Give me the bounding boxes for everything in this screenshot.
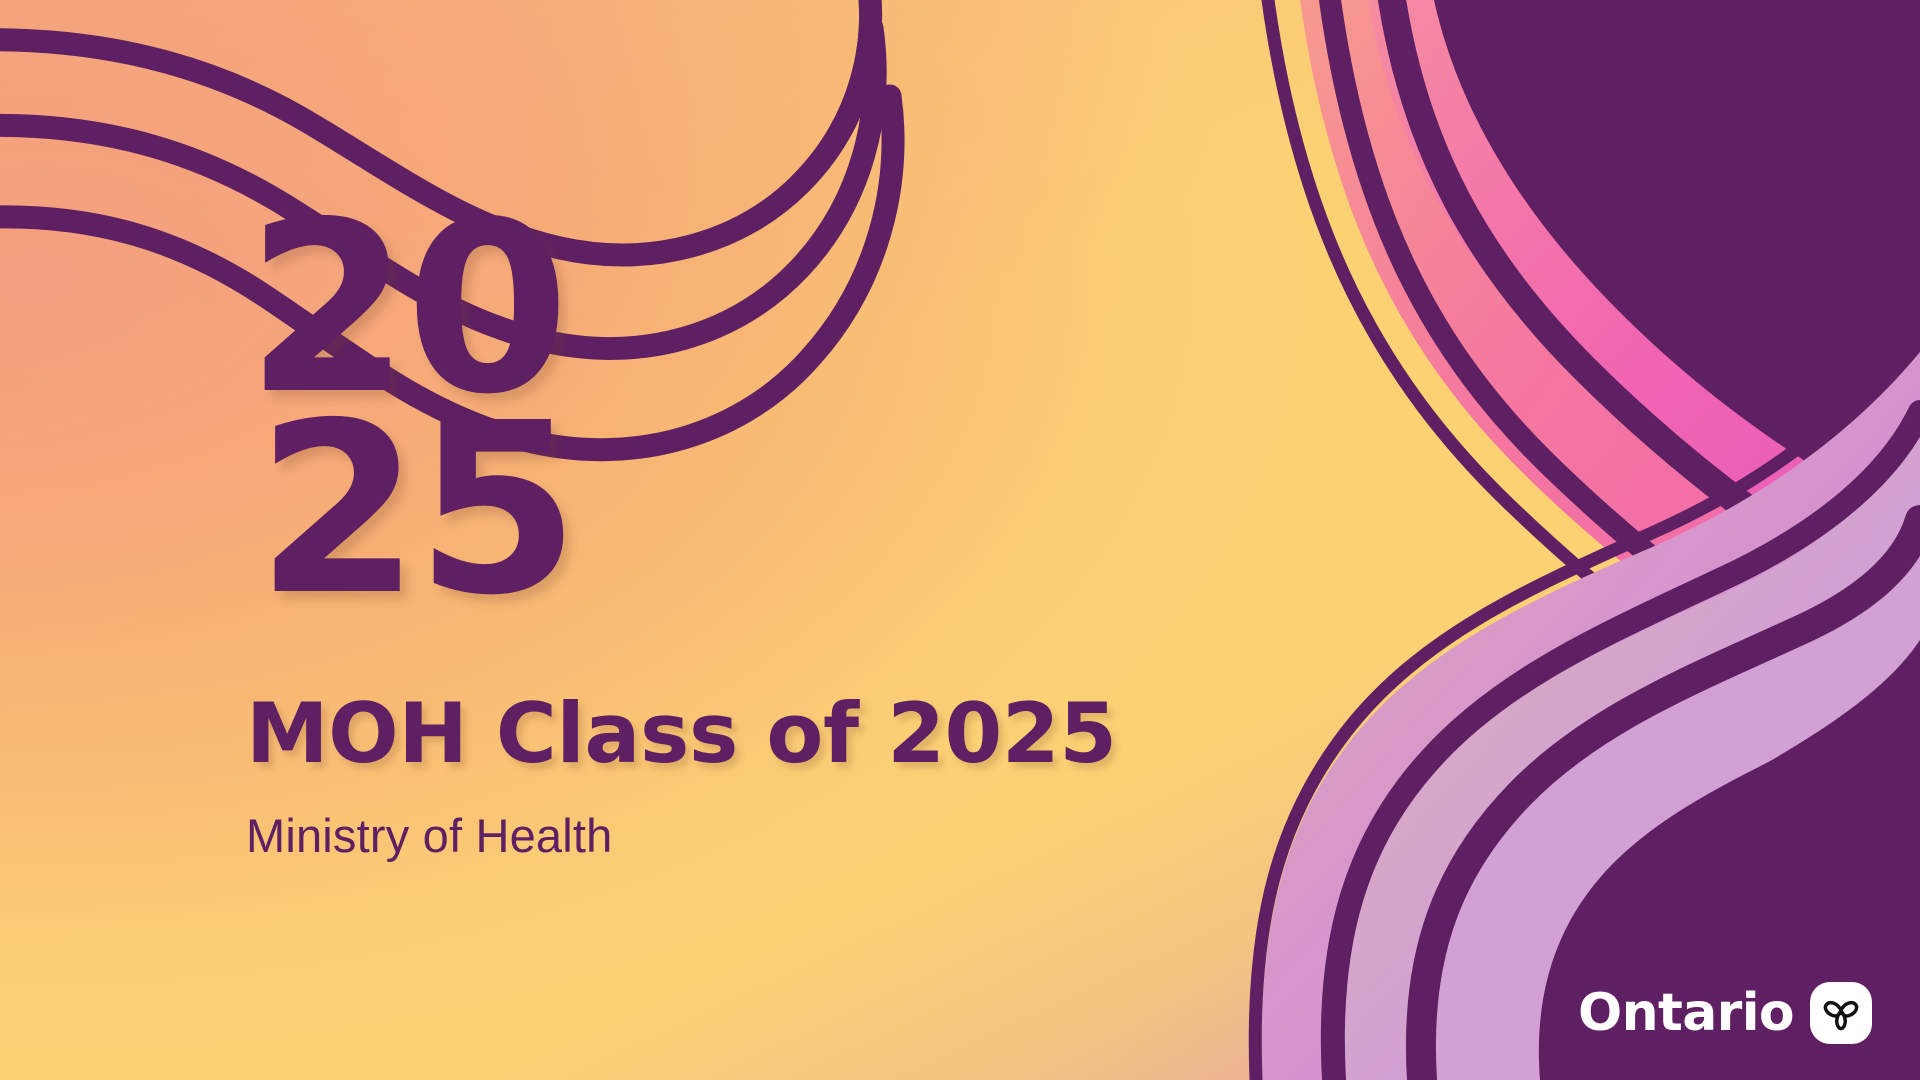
year-display: 20 25 <box>246 196 1226 623</box>
ontario-wordmark: Ontario <box>1578 987 1794 1039</box>
banner-canvas: 20 25 MOH Class of 2025 Ministry of Heal… <box>0 0 1920 1080</box>
ontario-logo: Ontario <box>1578 982 1872 1044</box>
page-subtitle: Ministry of Health <box>246 808 1226 863</box>
banner-content: 20 25 MOH Class of 2025 Ministry of Heal… <box>246 196 1226 863</box>
trillium-icon <box>1810 982 1872 1044</box>
year-bottom: 25 <box>256 397 1226 624</box>
page-title: MOH Class of 2025 <box>246 685 1226 782</box>
